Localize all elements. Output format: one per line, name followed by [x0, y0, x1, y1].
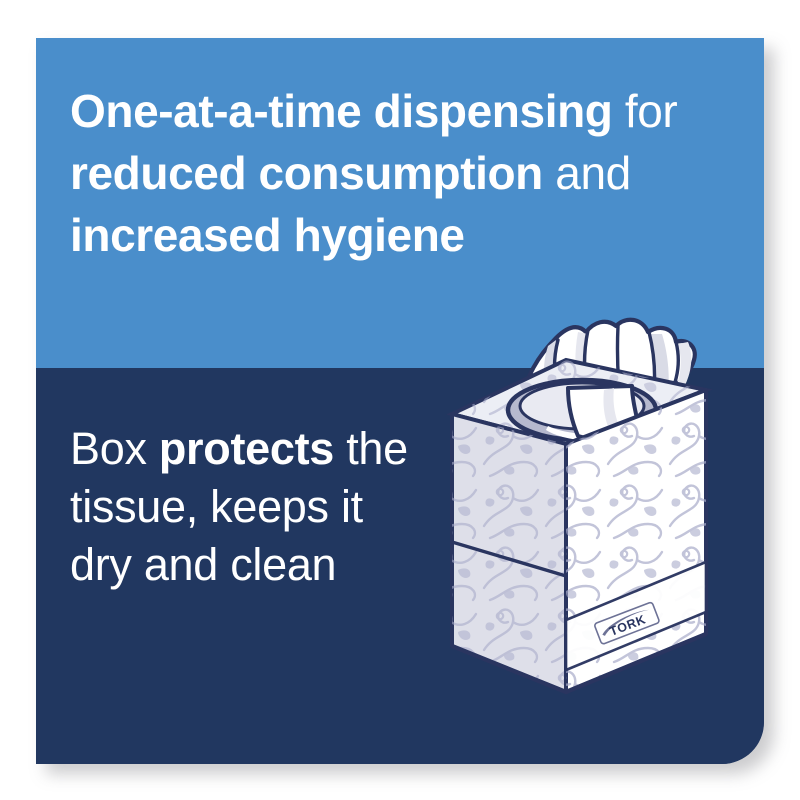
subline-regular-1: Box — [70, 423, 159, 474]
headline-regular-2: and — [543, 147, 631, 199]
promo-card: One-at-a-time dispensing for reduced con… — [36, 38, 764, 764]
headline-bold-1: One-at-a-time dispensing — [70, 85, 612, 137]
box-right-face — [566, 390, 706, 692]
box-left-face — [452, 414, 566, 692]
headline-bold-2: reduced consumption — [70, 147, 543, 199]
headline-text: One-at-a-time dispensing for reduced con… — [70, 80, 746, 266]
subline-bold-1: protects — [159, 423, 334, 474]
subline-text: Box protects the tissue, keeps it dry an… — [70, 420, 430, 594]
headline-regular-1: for — [612, 85, 677, 137]
image-canvas: One-at-a-time dispensing for reduced con… — [0, 0, 800, 800]
tissue-box-illustration: TORK — [418, 294, 758, 724]
headline-bold-3: increased hygiene — [70, 209, 465, 261]
